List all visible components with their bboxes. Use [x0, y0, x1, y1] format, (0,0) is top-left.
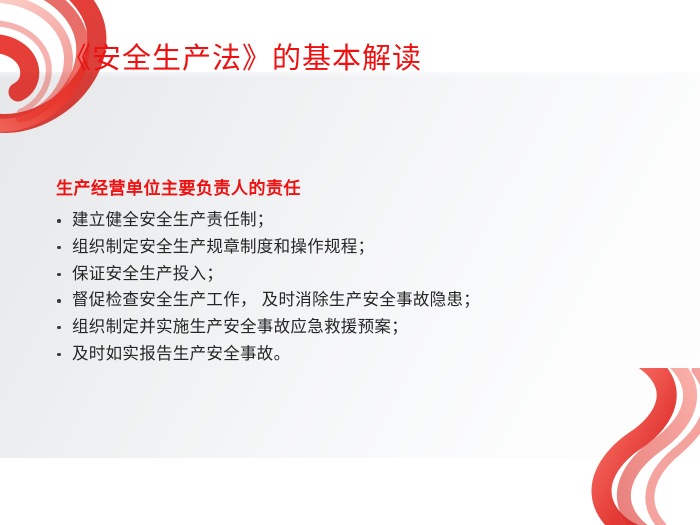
list-item: 组织制定并实施生产安全事故应急救援预案；: [56, 314, 656, 341]
content-body: 生产经营单位主要负责人的责任 建立健全安全生产责任制； 组织制定安全生产规章制度…: [56, 178, 656, 367]
presentation-slide: 《安全生产法》的基本解读 生产经营单位主要负责人的责任 建立健全安全生产责任制；…: [0, 0, 700, 525]
responsibility-bullet-list: 建立健全安全生产责任制； 组织制定安全生产规章制度和操作规程； 保证安全生产投入…: [56, 207, 656, 367]
list-item: 建立健全安全生产责任制；: [56, 207, 656, 234]
list-item: 及时如实报告生产安全事故。: [56, 341, 656, 368]
section-heading: 生产经营单位主要负责人的责任: [56, 178, 656, 200]
list-item: 督促检查安全生产工作， 及时消除生产安全事故隐患；: [56, 287, 656, 314]
list-item: 保证安全生产投入；: [56, 261, 656, 288]
list-item: 组织制定安全生产规章制度和操作规程；: [56, 234, 656, 261]
page-title: 《安全生产法》的基本解读: [62, 42, 422, 77]
